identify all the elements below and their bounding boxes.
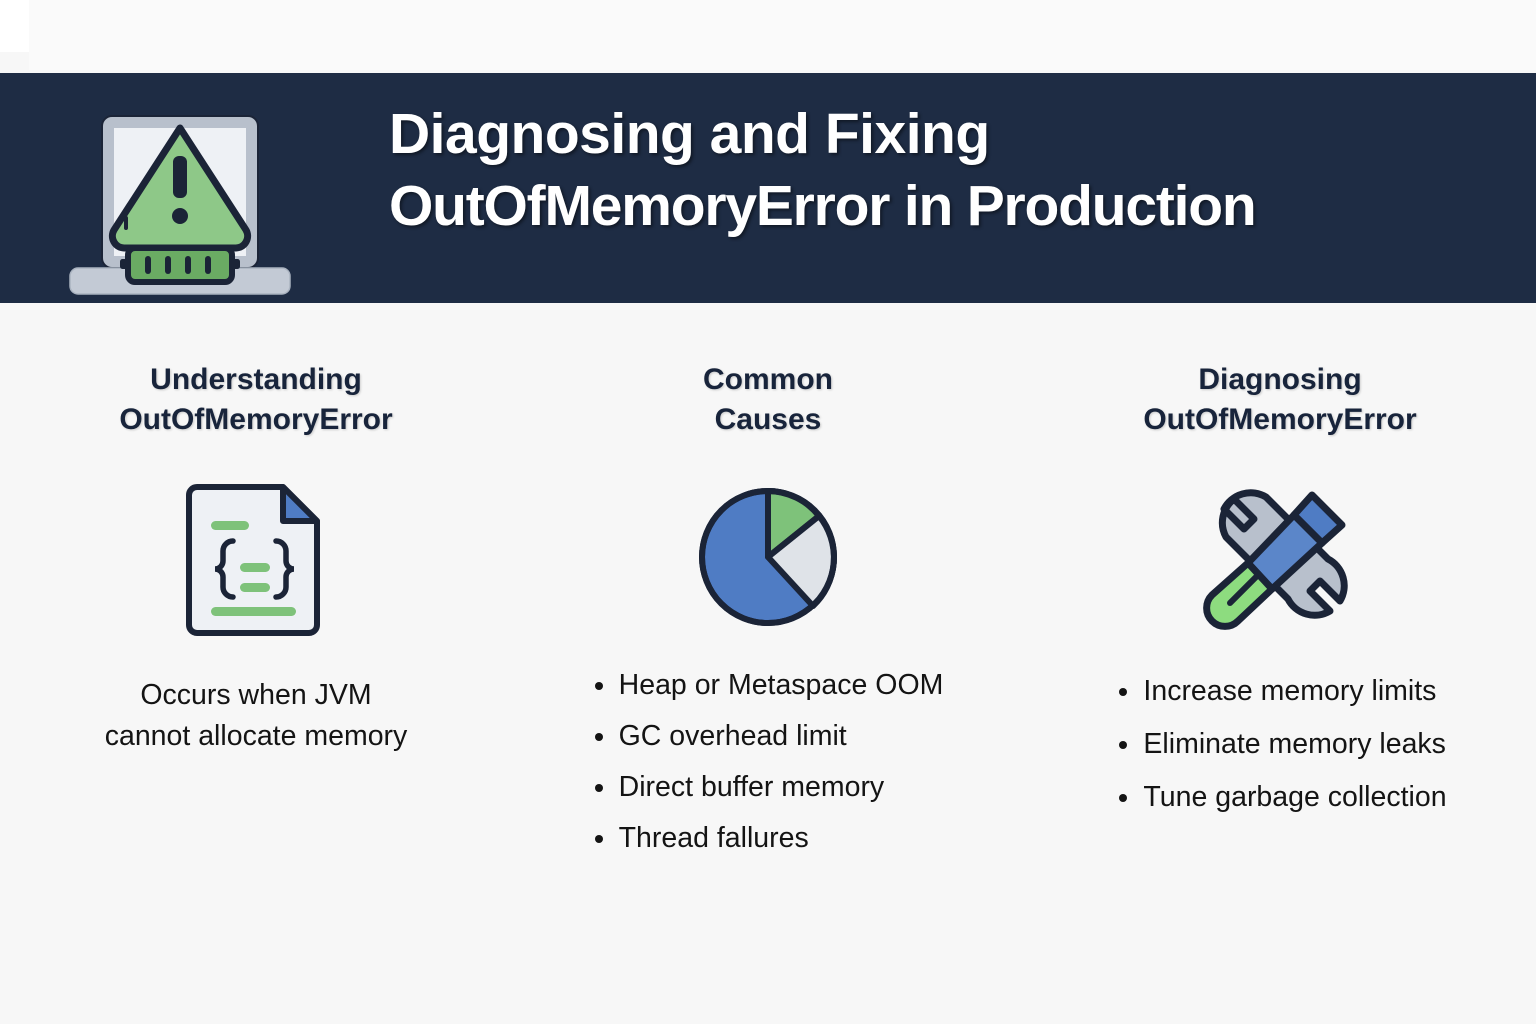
list-item: Direct buffer memory [589,767,944,808]
page-title-line-1: Diagnosing and Fixing [389,99,1489,171]
list-item: Heap or Metaspace OOM [589,665,944,706]
list-item: GC overhead limit [589,716,944,757]
column-understanding: Understanding OutOfMemoryError Occurs wh… [0,330,512,890]
column-heading-common-causes: Common Causes [703,360,833,439]
list-item: Eliminate memory leaks [1113,724,1446,765]
infographic-canvas: Diagnosing and Fixing OutOfMemoryError i… [0,0,1536,1024]
column-common-causes: Common Causes Heap or Metaspace OOM GC o… [512,330,1024,890]
list-item: Tune garbage collection [1113,777,1446,818]
column-diagnosing: Diagnosing OutOfMemoryError [1024,330,1536,890]
wrench-screwdriver-icon [1200,477,1360,637]
code-document-icon [176,479,336,639]
column-heading-understanding: Understanding OutOfMemoryError [119,360,392,439]
column-body-diagnosing: Increase memory limits Eliminate memory … [1113,671,1446,830]
laptop-memory-warning-icon [60,98,300,313]
causes-list: Heap or Metaspace OOM GC overhead limit … [589,665,944,859]
remedies-list: Increase memory limits Eliminate memory … [1113,671,1446,818]
pie-chart-icon [688,477,848,637]
header-band: Diagnosing and Fixing OutOfMemoryError i… [0,73,1536,303]
list-item: Thread fallures [589,818,944,859]
page-title: Diagnosing and Fixing OutOfMemoryError i… [389,99,1489,243]
column-body-common-causes: Heap or Metaspace OOM GC overhead limit … [589,665,944,869]
content-columns: Understanding OutOfMemoryError Occurs wh… [0,330,1536,890]
list-item: Increase memory limits [1113,671,1446,712]
corner-patch [0,0,29,52]
column-body-understanding: Occurs when JVM cannot allocate memory [105,675,408,757]
page-title-line-2: OutOfMemoryError in Production [389,171,1489,243]
top-margin-strip [29,0,1536,70]
column-heading-diagnosing: Diagnosing OutOfMemoryError [1143,360,1416,439]
